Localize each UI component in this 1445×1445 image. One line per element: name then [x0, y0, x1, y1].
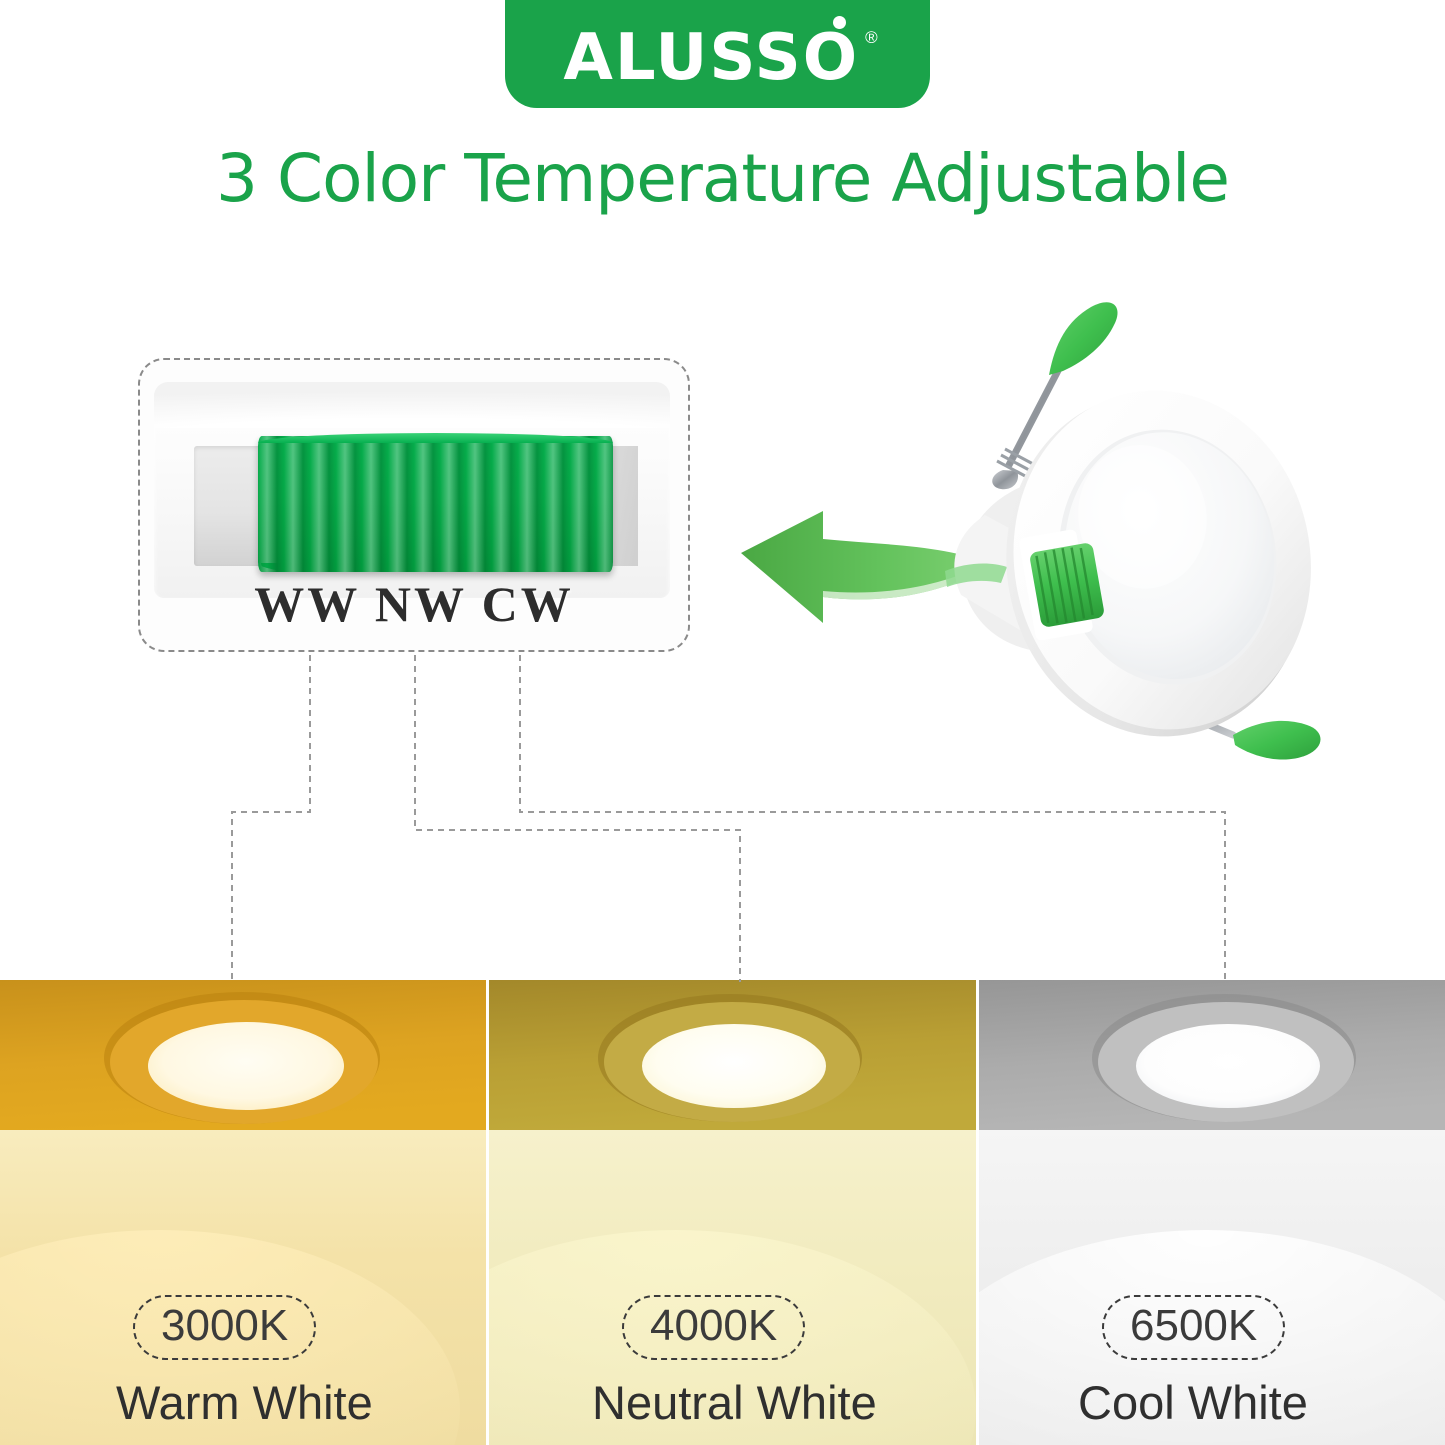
caption-cool: Cool White: [1078, 1375, 1308, 1430]
registered-trademark-icon: ®: [865, 28, 878, 48]
infographic-root: ALUSSO ® 3 Color Temperature Adjustable …: [0, 0, 1445, 1445]
panel-cool-white: 6500K Cool White: [976, 980, 1445, 1445]
color-temperature-switch-diagram[interactable]: WW NW CW: [138, 358, 690, 652]
panel-warm-white: 3000K Warm White: [0, 980, 486, 1445]
caption-neutral: Neutral White: [592, 1375, 877, 1430]
logo-text: ALUSSO: [563, 26, 859, 90]
color-temperature-panels: 3000K Warm White: [0, 980, 1445, 1445]
logo-wordmark-wrap: ALUSSO ®: [563, 20, 871, 84]
panel-neutral-white: 4000K Neutral White: [486, 980, 976, 1445]
brand-logo-badge: ALUSSO ®: [505, 0, 930, 108]
kelvin-badge-neutral: 4000K: [622, 1295, 805, 1360]
panel-divider-1: [486, 980, 489, 1445]
led-downlight-product-image: [945, 265, 1365, 785]
panel-divider-2: [976, 980, 979, 1445]
logo-dot-icon: [833, 16, 846, 29]
switch-mode-label: WW NW CW: [140, 575, 688, 633]
page-title: 3 Color Temperature Adjustable: [0, 140, 1445, 217]
kelvin-badge-warm: 3000K: [133, 1295, 316, 1360]
caption-warm: Warm White: [116, 1375, 373, 1430]
switch-slider-knob[interactable]: [258, 436, 613, 572]
switch-housing: [154, 382, 670, 598]
kelvin-badge-cool: 6500K: [1102, 1295, 1285, 1360]
switch-slider-highlight: [258, 433, 613, 443]
